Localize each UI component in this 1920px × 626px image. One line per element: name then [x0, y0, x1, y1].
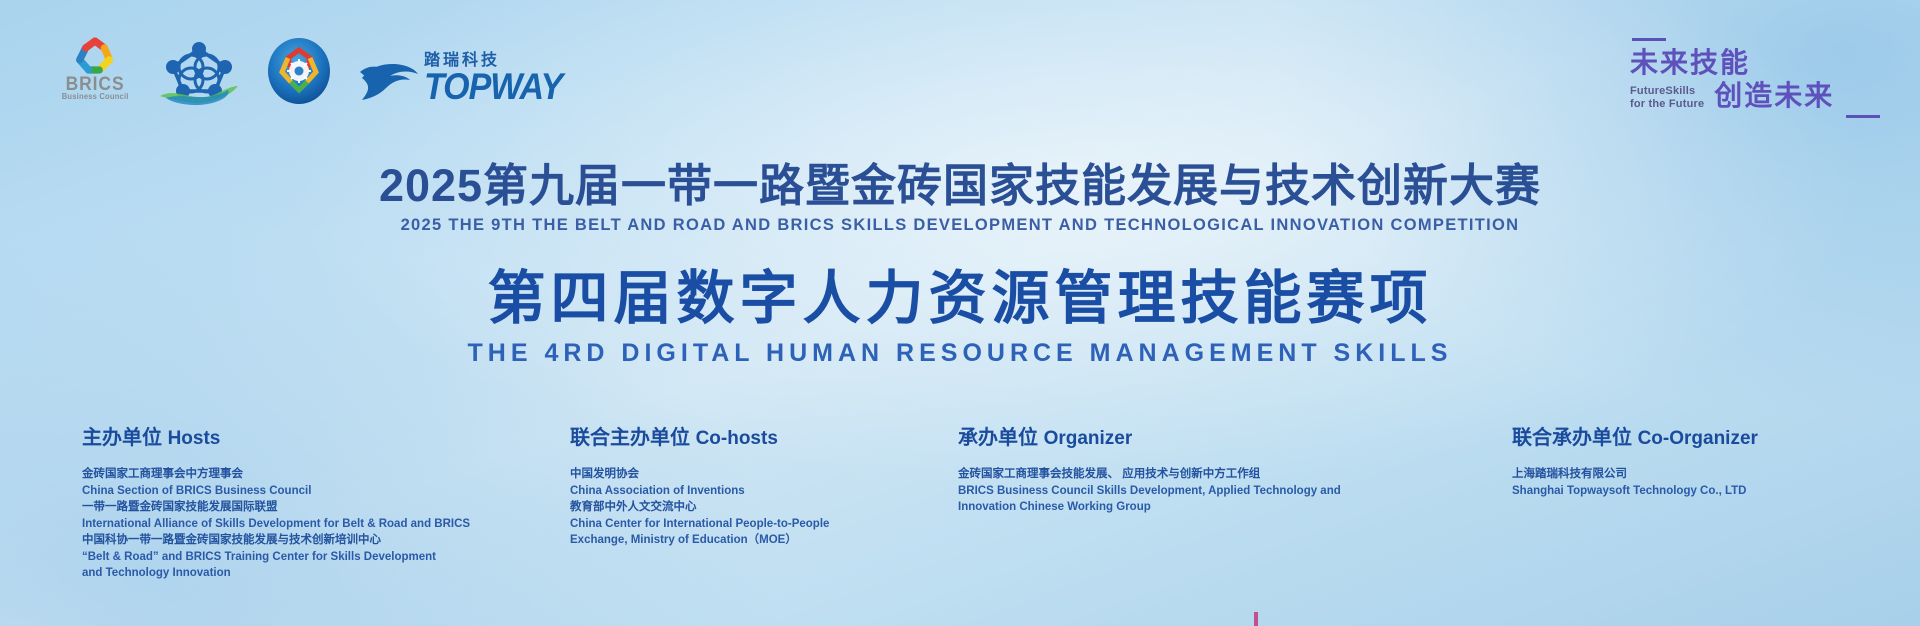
- organizer-line: 金砖国家工商理事会中方理事会: [82, 466, 512, 483]
- future-skills-bottom-rule: [1846, 115, 1880, 118]
- organizer-line: 金砖国家工商理事会技能发展、 应用技术与创新中方工作组: [958, 466, 1388, 483]
- organizer-heading-cn: 联合主办单位: [570, 427, 690, 449]
- organizer-heading: 主办单位 Hosts: [82, 425, 512, 452]
- logo-row: BRICS Business Council: [58, 36, 562, 106]
- bottom-progress-marker: [1254, 612, 1258, 626]
- competition-title-cn: 2025第九届一带一路暨金砖国家技能发展与技术创新大赛: [0, 160, 1920, 212]
- future-skills-en-line1: FutureSkills: [1630, 85, 1704, 98]
- organizer-line: “Belt & Road” and BRICS Training Center …: [82, 549, 512, 566]
- organizer-line: 上海踏瑞科技有限公司: [1512, 466, 1912, 483]
- organizer-heading-en: Co-Organizer: [1638, 428, 1758, 449]
- organizer-heading-en: Organizer: [1044, 428, 1133, 449]
- future-skills-cn-bottom: 创造未来: [1714, 81, 1834, 111]
- headline-block: 2025第九届一带一路暨金砖国家技能发展与技术创新大赛 2025 THE 9TH…: [0, 160, 1920, 370]
- organizer-line: Exchange, Ministry of Education（MOE）: [570, 532, 900, 549]
- organizer-line: 一带一路暨金砖国家技能发展国际联盟: [82, 499, 512, 516]
- alliance-network-icon: [158, 36, 240, 106]
- belt-road-brics-alliance-logo: [158, 36, 240, 106]
- organizer-column-cohosts: 联合主办单位 Co-hosts 中国发明协会 China Association…: [570, 425, 900, 549]
- topway-dragon-icon: [358, 58, 420, 106]
- future-skills-block: 未来技能 FutureSkills for the Future 创造未来: [1630, 38, 1880, 118]
- organizer-line: Innovation Chinese Working Group: [958, 499, 1388, 516]
- brics-business-council-logo: BRICS Business Council: [58, 36, 132, 106]
- organizer-heading: 联合主办单位 Co-hosts: [570, 425, 900, 452]
- competition-title-en: 2025 THE 9TH THE BELT AND ROAD AND BRICS…: [0, 214, 1920, 236]
- topway-logo: 踏瑞科技 TOPWAY: [358, 36, 562, 106]
- future-skills-en-line2: for the Future: [1630, 98, 1704, 111]
- brics-wordmark: BRICS: [66, 77, 125, 92]
- organizer-heading-en: Co-hosts: [696, 428, 778, 449]
- organizer-line: China Section of BRICS Business Council: [82, 483, 512, 500]
- future-skills-cn-top: 未来技能: [1630, 47, 1880, 79]
- organizer-column-organizer: 承办单位 Organizer 金砖国家工商理事会技能发展、 应用技术与创新中方工…: [958, 425, 1388, 516]
- organizer-heading-cn: 承办单位: [958, 427, 1038, 449]
- organizer-line: 中国科协一带一路暨金砖国家技能发展与技术创新培训中心: [82, 532, 512, 549]
- event-title-cn: 第四届数字人力资源管理技能赛项: [0, 262, 1920, 336]
- organizer-heading-cn: 联合承办单位: [1512, 427, 1632, 449]
- organizer-column-hosts: 主办单位 Hosts 金砖国家工商理事会中方理事会 China Section …: [82, 425, 512, 582]
- event-title-en: THE 4RD DIGITAL HUMAN RESOURCE MANAGEMEN…: [0, 336, 1920, 370]
- poster-banner: BRICS Business Council: [0, 0, 1920, 626]
- skills-competition-emblem-logo: [266, 38, 332, 104]
- organizer-heading: 承办单位 Organizer: [958, 425, 1388, 452]
- organizer-line: China Center for International People-to…: [570, 516, 900, 533]
- brics-subtitle: Business Council: [62, 92, 129, 102]
- organizer-line: 中国发明协会: [570, 466, 900, 483]
- organizer-column-coorganizer: 联合承办单位 Co-Organizer 上海踏瑞科技有限公司 Shanghai …: [1512, 425, 1912, 499]
- future-skills-top-rule: [1632, 38, 1666, 41]
- organizer-line: Shanghai Topwaysoft Technology Co., LTD: [1512, 483, 1912, 500]
- organizer-heading-en: Hosts: [168, 428, 221, 449]
- organizer-line: 教育部中外人文交流中心: [570, 499, 900, 516]
- organizers-section: 主办单位 Hosts 金砖国家工商理事会中方理事会 China Section …: [0, 425, 1920, 615]
- organizer-line: BRICS Business Council Skills Developmen…: [958, 483, 1388, 500]
- organizer-heading-cn: 主办单位: [82, 427, 162, 449]
- organizer-heading: 联合承办单位 Co-Organizer: [1512, 425, 1912, 452]
- topway-en-name: TOPWAY: [424, 69, 562, 106]
- emblem-icon: [266, 38, 332, 104]
- brics-star-icon: [73, 36, 117, 76]
- organizer-line: China Association of Inventions: [570, 483, 900, 500]
- organizer-line: and Technology Innovation: [82, 565, 512, 582]
- organizer-line: International Alliance of Skills Develop…: [82, 516, 512, 533]
